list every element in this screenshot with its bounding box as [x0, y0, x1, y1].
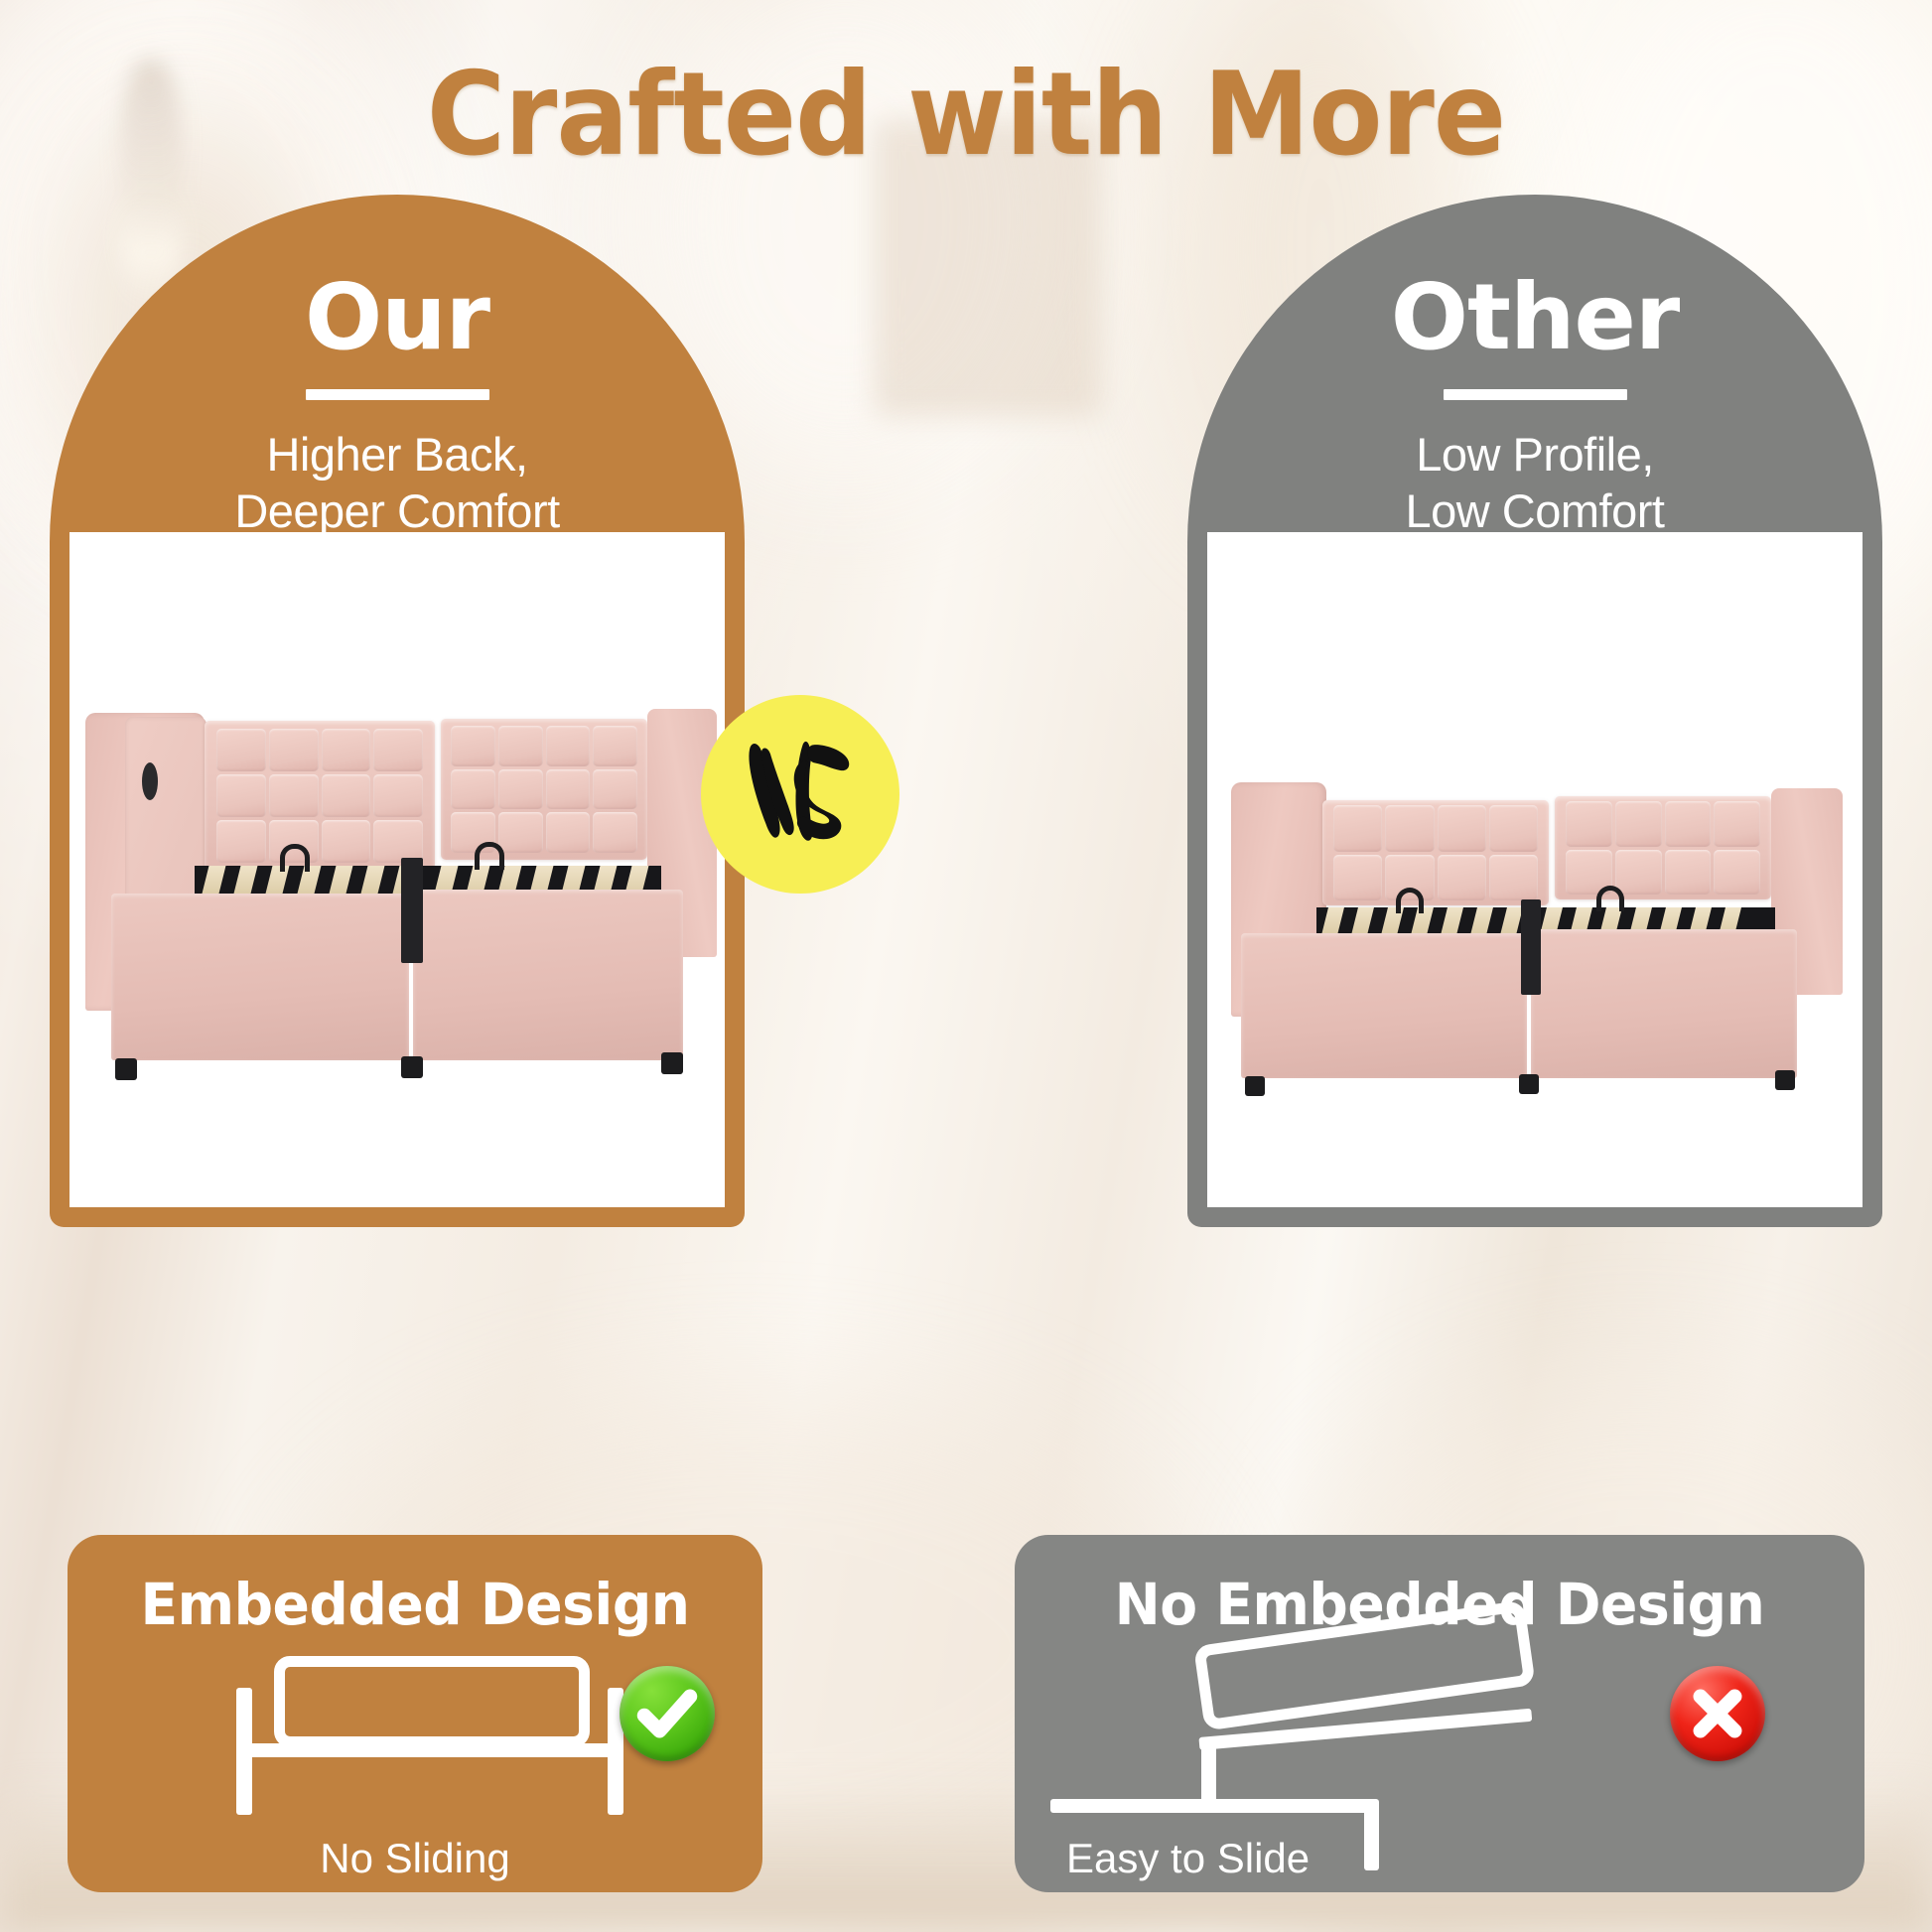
- panel-subtitle-other-line1: Low Profile,: [1187, 426, 1882, 483]
- panel-subtitle-our-line1: Higher Back,: [50, 426, 745, 483]
- feature-card-our-title: Embedded Design: [85, 1535, 746, 1638]
- bed-headboard-panel: [1555, 796, 1771, 899]
- vs-lettering-icon: [726, 720, 875, 869]
- bed-illustration-our: [85, 699, 717, 1146]
- panel-subtitle-other: Low Profile, Low Comfort: [1187, 426, 1882, 540]
- bed-lift-handle: [1396, 888, 1424, 913]
- bed-pull-strap: [1521, 899, 1541, 995]
- heading-underline: [306, 389, 489, 400]
- check-mark-badge: [620, 1666, 715, 1761]
- bed-lift-handle: [280, 844, 310, 872]
- feature-card-other-body: Easy to Slide: [1015, 1638, 1864, 1886]
- panel-subtitle-our: Higher Back, Deeper Comfort: [50, 426, 745, 540]
- page-title: Crafted with More: [68, 48, 1864, 182]
- heading-underline: [1444, 389, 1627, 400]
- cross-icon: [1670, 1666, 1765, 1761]
- bed-headboard-panel: [1322, 800, 1549, 905]
- bed-storage-drawer: [1241, 933, 1527, 1078]
- bed-foot: [1775, 1070, 1795, 1090]
- bed-storage-drawer: [413, 890, 683, 1060]
- bed-lift-handle: [475, 842, 504, 870]
- product-photo-our: [69, 532, 725, 1207]
- bed-headboard-panel: [441, 719, 647, 860]
- frame-rail-lower: [1050, 1799, 1378, 1813]
- bed-foot: [115, 1058, 137, 1080]
- panel-heading-our: Our: [50, 195, 745, 363]
- bed-storage-drawer: [111, 894, 409, 1060]
- cross-mark-badge: [1670, 1666, 1765, 1761]
- bed-pull-strap: [401, 858, 423, 963]
- usb-charging-port-icon: [142, 762, 158, 800]
- bed-foot: [401, 1056, 423, 1078]
- panel-heading-other: Other: [1187, 195, 1882, 363]
- bed-storage-drawer: [1531, 929, 1797, 1078]
- feature-card-our: Embedded Design No Sliding: [68, 1535, 762, 1892]
- bed-illustration-other: [1231, 762, 1843, 1146]
- bed-foot: [1519, 1074, 1539, 1094]
- bed-foot: [661, 1052, 683, 1074]
- bed-headboard-panel: [205, 721, 435, 870]
- vs-badge: [701, 695, 899, 894]
- panel-header-our: Our Higher Back, Deeper Comfort: [50, 195, 745, 532]
- feature-card-our-caption: No Sliding: [68, 1835, 762, 1882]
- bed-frame-sliding-icon: [1050, 1650, 1533, 1819]
- comparison-panel-other: Other Low Profile, Low Comfort: [1187, 195, 1882, 1227]
- bed-lift-handle: [1596, 886, 1624, 911]
- check-icon: [620, 1666, 715, 1761]
- bed-foot: [1245, 1076, 1265, 1096]
- feature-card-our-body: No Sliding: [68, 1638, 762, 1886]
- mattress-outline: [274, 1656, 590, 1747]
- panel-header-other: Other Low Profile, Low Comfort: [1187, 195, 1882, 532]
- feature-card-other: No Embedded Design Easy to Slide: [1015, 1535, 1864, 1892]
- feature-card-other-caption: Easy to Slide: [1015, 1835, 1864, 1882]
- comparison-panel-our: Our Higher Back, Deeper Comfort: [50, 195, 745, 1227]
- frame-leg: [236, 1688, 252, 1815]
- bed-frame-embedded-icon: [236, 1656, 623, 1815]
- frame-rail: [236, 1743, 623, 1757]
- product-photo-other: [1207, 532, 1863, 1207]
